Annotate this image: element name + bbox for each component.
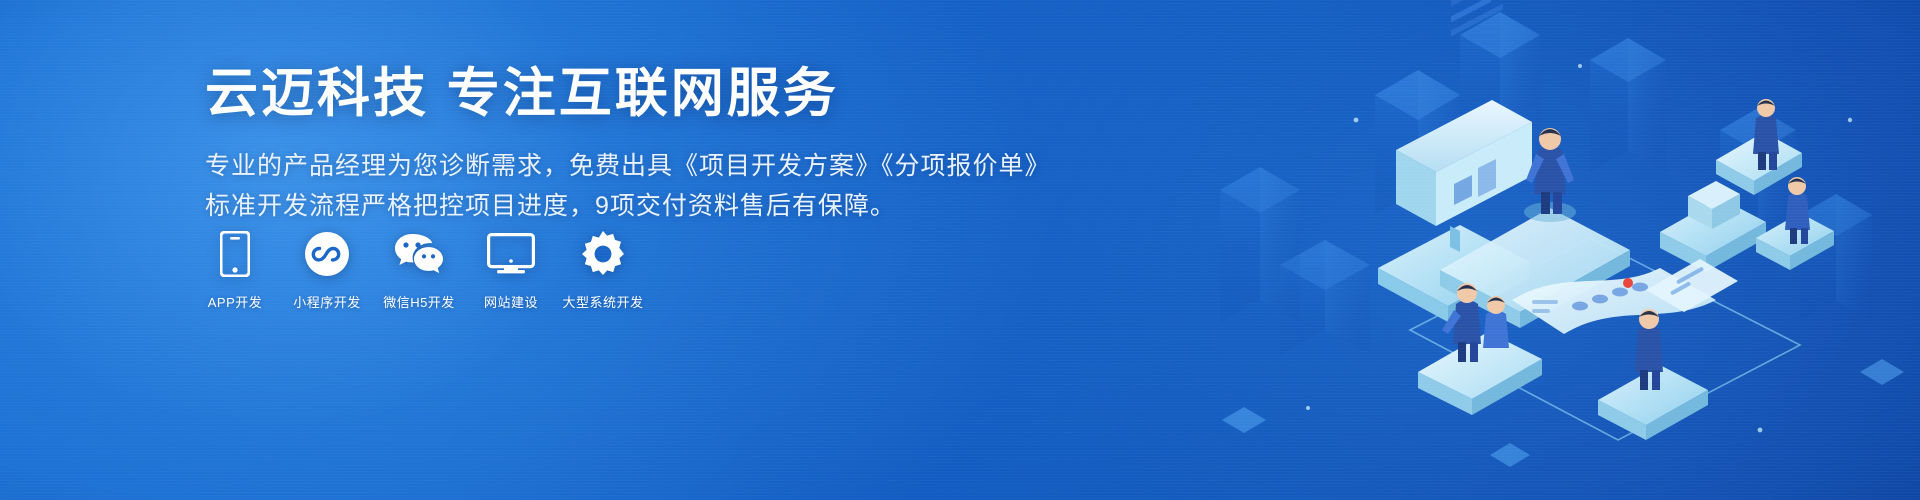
service-label: 小程序开发	[283, 292, 371, 311]
service-item-app[interactable]: APP开发	[200, 228, 270, 311]
banner-subtitle: 专业的产品经理为您诊断需求，免费出具《项目开发方案》《分项报价单》 标准开发流程…	[205, 146, 1105, 227]
gear-icon	[568, 228, 638, 280]
isometric-illustration	[1160, 0, 1920, 500]
mobile-phone-icon	[200, 228, 270, 280]
mini-program-icon	[292, 228, 362, 280]
monitor-icon	[476, 228, 546, 280]
service-label: 微信H5开发	[370, 292, 468, 311]
subtitle-line-1: 专业的产品经理为您诊断需求，免费出具《项目开发方案》《分项报价单》	[205, 146, 1105, 187]
subtitle-line-2: 标准开发流程严格把控项目进度，9项交付资料售后有保障。	[205, 186, 1105, 227]
service-item-wechat[interactable]: 微信H5开发	[384, 228, 454, 311]
service-label: 网站建设	[476, 292, 546, 311]
service-label: 大型系统开发	[554, 292, 652, 311]
page-title: 云迈科技 专注互联网服务	[205, 63, 1105, 126]
banner-copy: 云迈科技 专注互联网服务 专业的产品经理为您诊断需求，免费出具《项目开发方案》《…	[205, 63, 1105, 227]
service-item-system[interactable]: 大型系统开发	[568, 228, 638, 311]
service-list: APP开发 小程序开发 微信	[200, 228, 638, 311]
service-label: APP开发	[200, 292, 270, 311]
service-item-miniprogram[interactable]: 小程序开发	[292, 228, 362, 311]
hero-banner: 云迈科技 专注互联网服务 专业的产品经理为您诊断需求，免费出具《项目开发方案》《…	[0, 0, 1920, 500]
wechat-icon	[384, 228, 454, 280]
service-item-website[interactable]: 网站建设	[476, 228, 546, 311]
